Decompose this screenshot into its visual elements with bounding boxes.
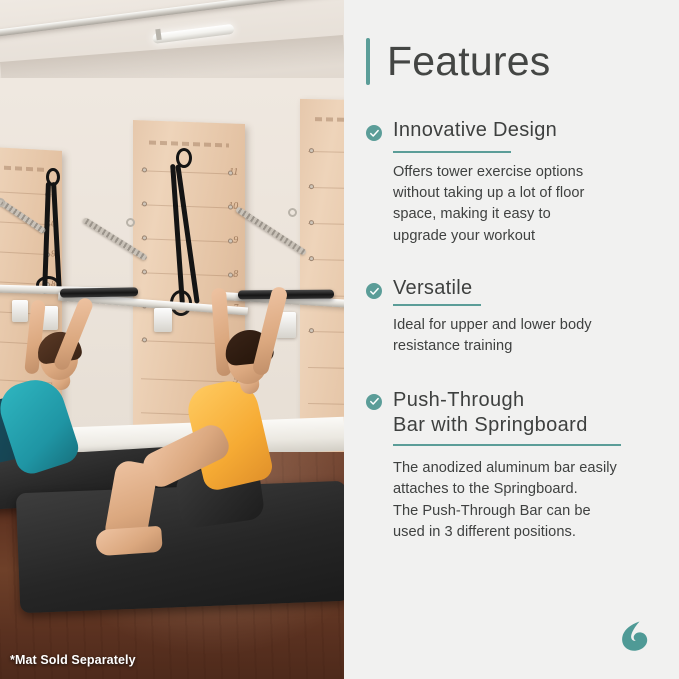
feature-title-line-2: Bar with Springboard (393, 413, 653, 439)
feature-title-underline (393, 304, 481, 306)
description-line: attaches to the Springboard. (393, 479, 653, 500)
description-line: space, making it easy to (393, 204, 653, 225)
spring-ring-right (288, 208, 297, 217)
feature-title: Innovative Design (393, 119, 557, 148)
product-photo: 11 10 9 8 7 6 5 4 3 11 10 9 8 (0, 0, 344, 679)
feature-body: Innovative Design Offers tower exercise … (393, 119, 653, 247)
wall-bracket-1 (12, 300, 28, 322)
mat-disclaimer-caption: *Mat Sold Separately (10, 653, 136, 667)
feature-title-underline (393, 444, 621, 446)
push-through-bar-left (60, 287, 138, 297)
description-line: The anodized aluminum bar easily (393, 458, 653, 479)
check-circle-icon (366, 283, 382, 299)
panel-header: Features (366, 38, 653, 85)
product-feature-card: 11 10 9 8 7 6 5 4 3 11 10 9 8 (0, 0, 679, 679)
feature-description: Ideal for upper and lower body resistanc… (393, 315, 653, 358)
feature-body: Versatile Ideal for upper and lower body… (393, 277, 653, 357)
feature-title-line-1: Push-Through (393, 388, 653, 414)
brand-logo (615, 617, 653, 655)
accent-bar (366, 38, 370, 85)
feature-title-underline (393, 151, 511, 153)
feature-item-push-through-bar: Push-Through Bar with Springboard The an… (366, 388, 653, 544)
description-line: The Push-Through Bar can be (393, 501, 653, 522)
feature-description: The anodized aluminum bar easily attache… (393, 458, 653, 544)
page-title: Features (387, 41, 550, 82)
description-line: upgrade your workout (393, 226, 653, 247)
foot (95, 526, 163, 557)
description-line: Ideal for upper and lower body (393, 315, 653, 336)
description-line: resistance training (393, 336, 653, 357)
wall-bracket-3 (154, 308, 172, 332)
check-circle-icon (366, 394, 382, 410)
description-line: without taking up a lot of floor (393, 183, 653, 204)
feature-item-versatile: Versatile Ideal for upper and lower body… (366, 277, 653, 357)
feature-body: Push-Through Bar with Springboard The an… (393, 388, 653, 544)
feature-title: Versatile (393, 277, 472, 299)
feature-item-innovative-design: Innovative Design Offers tower exercise … (366, 119, 653, 247)
spring-ring-center (126, 218, 135, 227)
description-line: used in 3 different positions. (393, 522, 653, 543)
feature-description: Offers tower exercise options without ta… (393, 162, 653, 248)
description-line: Offers tower exercise options (393, 162, 653, 183)
features-panel: Features Innovative Design Offers tower … (344, 0, 679, 679)
check-circle-icon (366, 125, 382, 141)
